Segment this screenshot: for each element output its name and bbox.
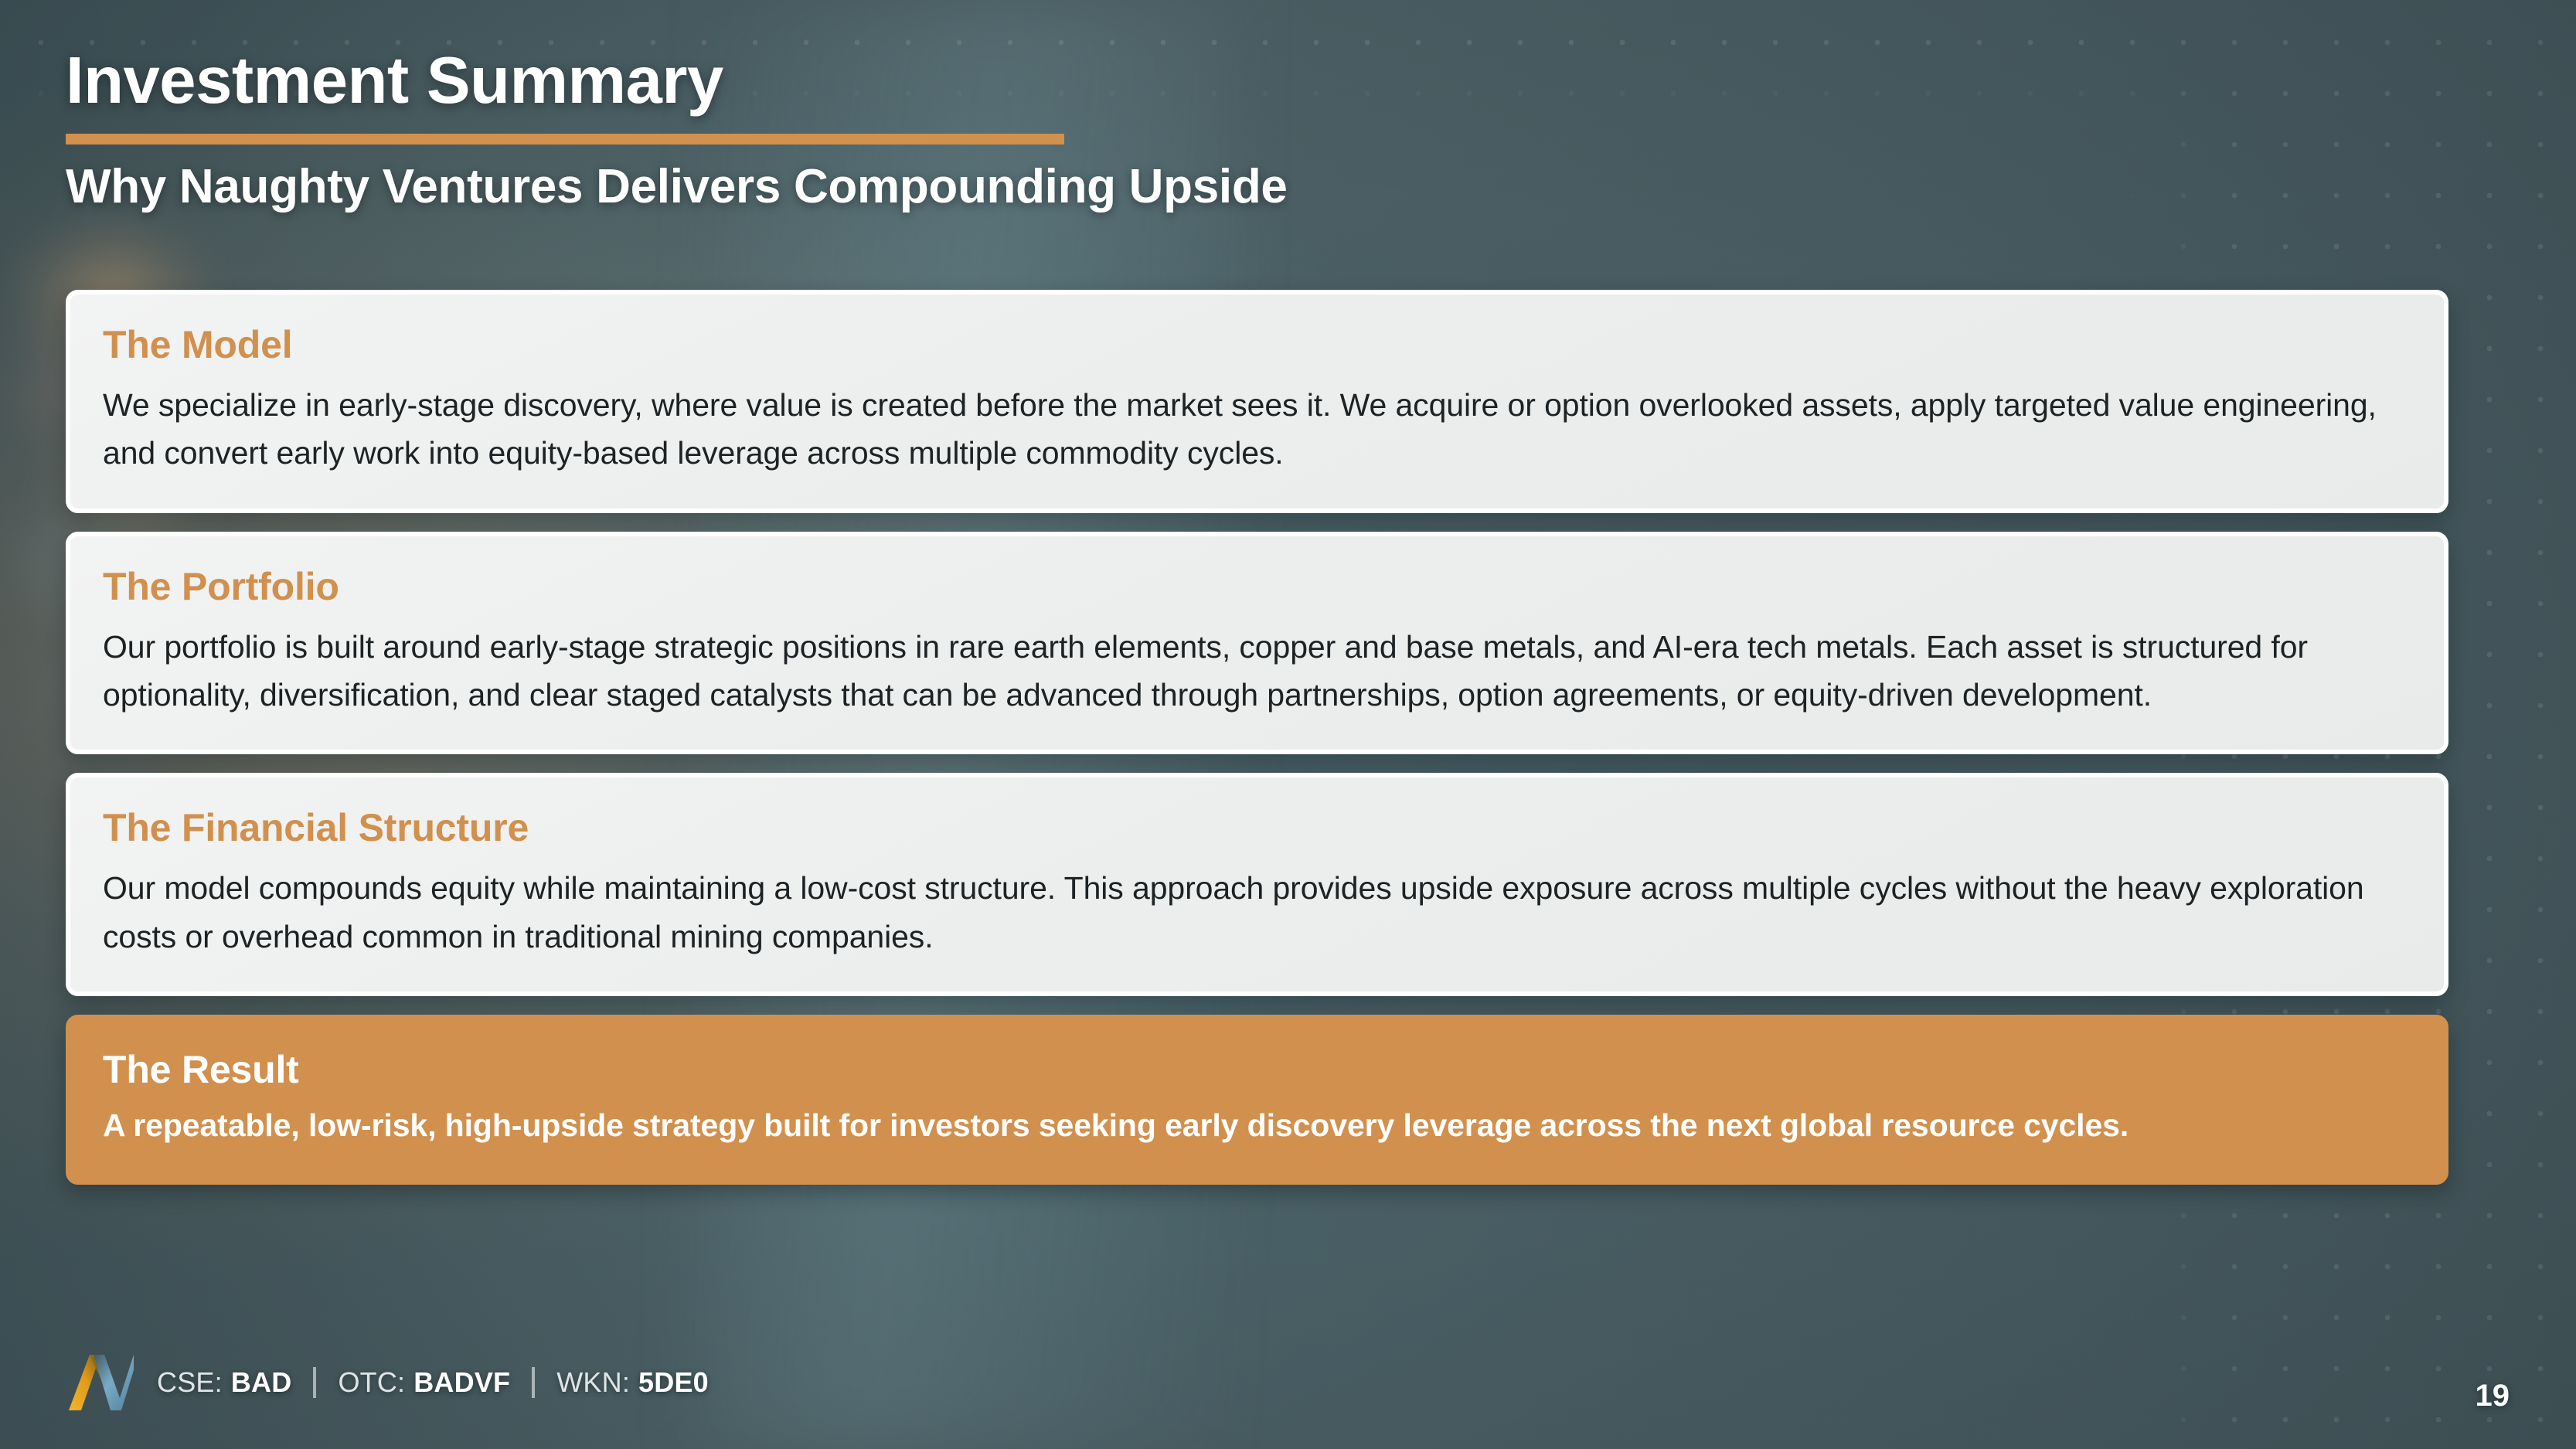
listing-divider [313, 1367, 316, 1398]
listing-label-wkn: WKN: [556, 1366, 630, 1399]
page-number: 19 [2476, 1379, 2510, 1413]
card-body: Our portfolio is built around early-stag… [103, 623, 2411, 719]
card-body: Our model compounds equity while maintai… [103, 864, 2411, 961]
slide-footer: CSE: BAD OTC: BADVF WKN: 5DE0 [66, 1350, 709, 1415]
card-the-financial-structure: The Financial Structure Our model compou… [66, 773, 2448, 996]
listing-value-wkn: 5DE0 [638, 1366, 709, 1399]
card-the-model: The Model We specialize in early-stage d… [66, 290, 2448, 513]
slide-investment-summary: Investment Summary Why Naughty Ventures … [0, 0, 2576, 1449]
card-the-portfolio: The Portfolio Our portfolio is built aro… [66, 532, 2448, 755]
card-the-result: The Result A repeatable, low-risk, high-… [66, 1015, 2448, 1185]
card-title: The Result [103, 1050, 2411, 1089]
listing-value-cse: BAD [231, 1366, 292, 1399]
listing-value-otc: BADVF [413, 1366, 510, 1399]
naughty-ventures-logo [66, 1350, 137, 1415]
slide-header: Investment Summary Why Naughty Ventures … [66, 48, 1288, 212]
listing-divider [532, 1367, 535, 1398]
title-underline-rule [66, 134, 1064, 145]
card-body: A repeatable, low-risk, high-upside stra… [103, 1101, 2411, 1149]
exchange-listings: CSE: BAD OTC: BADVF WKN: 5DE0 [157, 1366, 709, 1399]
listing-label-cse: CSE: [157, 1366, 223, 1399]
card-title: The Model [103, 325, 2411, 364]
page-subtitle: Why Naughty Ventures Delivers Compoundin… [66, 162, 1288, 212]
summary-card-list: The Model We specialize in early-stage d… [66, 290, 2448, 1185]
card-title: The Financial Structure [103, 808, 2411, 847]
listing-label-otc: OTC: [338, 1366, 405, 1399]
card-title: The Portfolio [103, 567, 2411, 606]
card-body: We specialize in early-stage discovery, … [103, 381, 2411, 478]
page-title: Investment Summary [66, 48, 1288, 114]
